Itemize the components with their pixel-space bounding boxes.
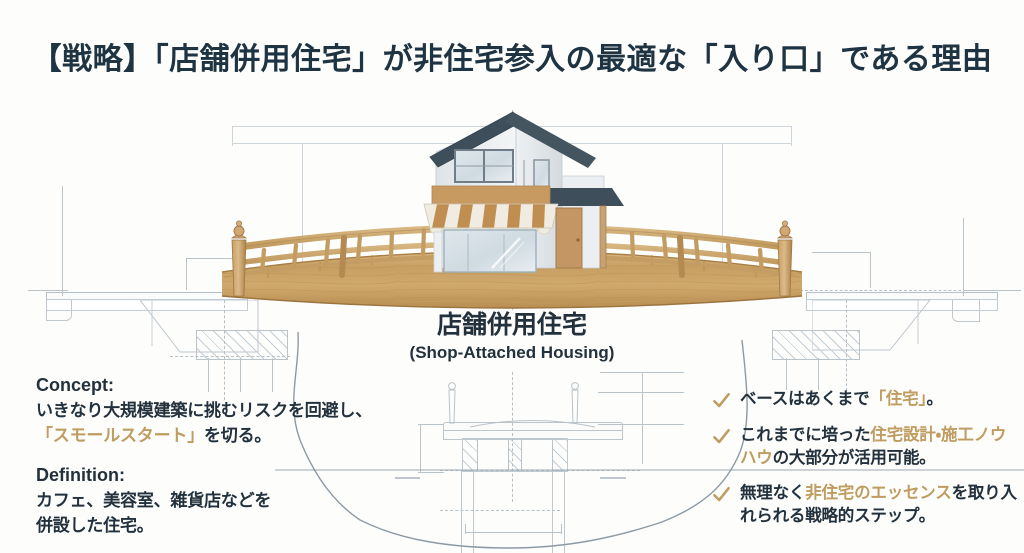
check-icon (712, 485, 731, 504)
caption-english: (Shop-Attached Housing) (0, 342, 1024, 363)
definition-line-2: 併設した住宅。 (36, 514, 386, 539)
check-icon (712, 391, 731, 410)
bullet-segment-1: 無理なく (740, 484, 805, 502)
shop-sign-band (432, 186, 550, 204)
concept-line-2: 「スモールスタート」を切る。 (36, 424, 386, 449)
bullet-text-1: ベースはあくまで「住宅」。 (740, 388, 943, 411)
house-porch-roof (545, 188, 624, 206)
list-item: ベースはあくまで「住宅」。 (712, 388, 1018, 411)
entrance-door (556, 208, 582, 268)
bullet-text-3: 無理なく非住宅のエッセンスを取り入れられる戦略的ステップ。 (740, 482, 1018, 528)
bullet-segment-2: 非住宅のエッセンス (805, 484, 951, 502)
list-item: これまでに培った住宅設計・施工ノウハウの大部分が活用可能。 (712, 424, 1018, 470)
porch-post-right (600, 206, 606, 268)
shop-front-window (444, 230, 536, 272)
left-block-spacer (36, 448, 386, 462)
concept-label: Concept: (36, 372, 386, 399)
definition-line-1: カフェ、美容室、雑貨店などを (36, 489, 386, 514)
concept-line-1: いきなり大規模建築に挑むリスクを回避し、 (36, 399, 386, 424)
concept-highlight: 「スモールスタート」 (36, 426, 204, 445)
list-item: 無理なく非住宅のエッセンスを取り入れられる戦略的ステップ。 (712, 482, 1018, 528)
right-bullet-list: ベースはあくまで「住宅」。 これまでに培った住宅設計・施工ノウハウの大部分が活用… (712, 388, 1018, 541)
caption-japanese: 店舗併用住宅 (0, 312, 1024, 340)
check-icon (712, 427, 731, 446)
bullet-text-2: これまでに培った住宅設計・施工ノウハウの大部分が活用可能。 (740, 424, 1018, 470)
bullet-segment-1: これまでに培った (740, 426, 870, 444)
bullet-segment-3: 。 (927, 390, 943, 408)
definition-label: Definition: (36, 462, 386, 489)
bullet-segment-1: ベースはあくまで (740, 390, 870, 408)
slide-root: 【戦略】「店舗併用住宅」が非住宅参入の最適な「入り口」である理由 (0, 0, 1024, 553)
bullet-segment-3: の大部分が活用可能。 (773, 449, 936, 467)
shop-pillar-left (434, 232, 442, 272)
left-text-block: Concept: いきなり大規模建築に挑むリスクを回避し、 「スモールスタート」… (36, 372, 386, 539)
door-knob-icon (576, 238, 579, 241)
bullet-segment-2: 「住宅」 (870, 390, 927, 408)
center-caption: 店舗併用住宅 (Shop-Attached Housing) (0, 312, 1024, 363)
concept-line-2-rest: を切る。 (204, 426, 271, 445)
